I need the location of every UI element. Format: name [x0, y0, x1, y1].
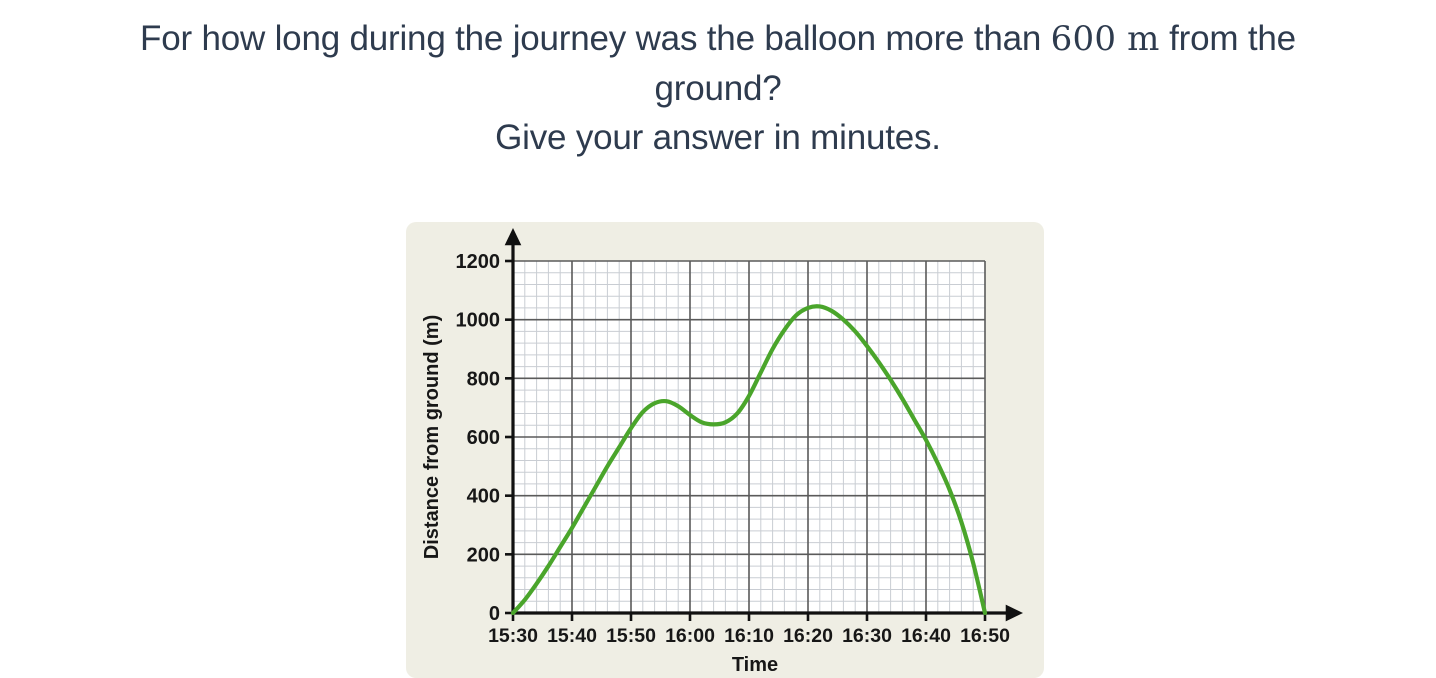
y-axis-tick-label: 600	[467, 427, 500, 449]
figure-panel: 020040060080010001200 15:3015:4015:5016:…	[406, 222, 1044, 678]
y-axis-tick-label: 400	[467, 486, 500, 508]
x-axis-tick-label: 16:20	[783, 625, 833, 647]
x-axis-tick-label: 15:50	[606, 625, 656, 647]
x-axis-tick-label: 16:10	[724, 625, 774, 647]
x-axis-tick-label: 15:30	[488, 625, 538, 647]
question-line-3: Give your answer in minutes.	[0, 113, 1436, 162]
x-axis-tick-label: 16:00	[665, 625, 715, 647]
y-axis-tick-label: 1200	[456, 251, 501, 273]
question-text: For how long during the journey was the …	[0, 0, 1436, 162]
y-axis-title: Distance from ground (m)	[421, 315, 443, 559]
question-line-1-part-2: from the	[1160, 19, 1296, 58]
distance-time-graph: 020040060080010001200 15:3015:4015:5016:…	[406, 222, 1044, 678]
x-axis-tick-labels: 15:3015:4015:5016:0016:1016:2016:3016:40…	[488, 625, 1010, 647]
y-axis-tick-label: 800	[467, 368, 500, 390]
x-axis-tick-label: 16:50	[960, 625, 1010, 647]
x-axis-tick-label: 16:40	[901, 625, 951, 647]
question-math-value: 600 m	[1051, 19, 1160, 59]
y-axis-tick-label: 200	[467, 544, 500, 566]
question-line-2: ground?	[0, 64, 1436, 113]
y-axis-tick-labels: 020040060080010001200	[456, 251, 501, 625]
chart-svg: 020040060080010001200 15:3015:4015:5016:…	[406, 222, 1044, 678]
x-axis-title: Time	[732, 654, 778, 676]
question-line-1: For how long during the journey was the …	[0, 14, 1436, 64]
x-axis-tick-label: 15:40	[547, 625, 597, 647]
x-axis-tick-label: 16:30	[842, 625, 892, 647]
y-axis-tick-label: 1000	[456, 310, 501, 332]
question-line-1-part-1: For how long during the journey was the …	[140, 19, 1051, 58]
y-axis-tick-label: 0	[489, 603, 500, 625]
